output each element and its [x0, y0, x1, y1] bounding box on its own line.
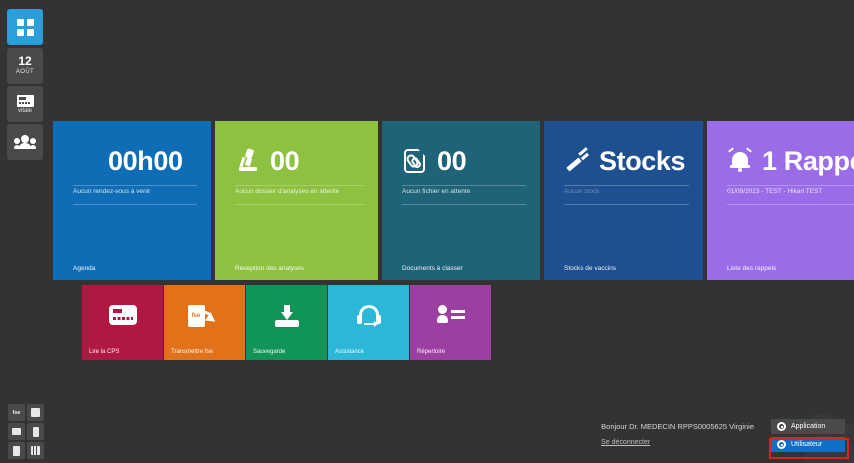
device-icon — [33, 427, 39, 437]
rail-item-vitale-label: vitale — [18, 108, 32, 114]
tile-stocks[interactable]: Stocks Aucun stock Stocks de vaccins — [544, 121, 703, 280]
divider — [235, 185, 364, 186]
shortcut-sauvegarde-label: Sauvegarde — [253, 349, 285, 355]
bell-icon — [727, 148, 753, 174]
logout-link[interactable]: Se déconnecter — [601, 439, 650, 446]
tile-analyses[interactable]: 00 Aucun dossier d'analyses en attente R… — [215, 121, 378, 280]
divider — [564, 204, 689, 205]
tile-agenda[interactable]: 00h00 Aucun rendez-vous à venir Agenda — [53, 121, 211, 280]
rail-item-vitale[interactable]: vitale — [7, 86, 43, 122]
tile-analyses-footer: Réception des analyses — [235, 265, 304, 272]
util-button-lock[interactable] — [27, 404, 44, 421]
divider — [402, 204, 526, 205]
rail-item-date[interactable]: 12 AOÛT — [7, 48, 43, 84]
greeting-block: Bonjour Dr. MEDECIN RPPS0005625 Virginie… — [601, 422, 754, 449]
gear-icon — [777, 422, 786, 431]
shortcut-transmettre-fse-label: Transmettre fse — [171, 349, 213, 355]
tile-rappels-value: 1 Rappel — [762, 147, 854, 175]
util-button-document[interactable] — [8, 442, 25, 459]
divider — [564, 185, 689, 186]
divider — [727, 204, 854, 205]
divider — [235, 204, 364, 205]
desktop-root: 12 AOÛT vitale fse — [0, 0, 854, 463]
tile-documents-subtitle: Aucun fichier en attente — [402, 188, 470, 195]
tile-rappels-subtitle: 01/09/2023 - TEST - Hikari TEST — [727, 188, 822, 195]
paperclip-document-icon — [402, 148, 428, 174]
shortcut-transmettre-fse[interactable]: fse Transmettre fse — [164, 285, 245, 360]
chart-icon — [31, 446, 40, 455]
utility-icon-grid: fse — [8, 404, 44, 459]
clock-icon — [73, 148, 99, 174]
tile-analyses-header: 00 — [235, 147, 299, 175]
util-button-device[interactable] — [27, 423, 44, 440]
contact-list-icon — [410, 305, 491, 325]
tile-stocks-header: Stocks — [564, 147, 685, 175]
shortcut-assistance-label: Assistance — [335, 349, 364, 355]
divider — [73, 204, 197, 205]
tile-agenda-header: 00h00 — [73, 147, 183, 175]
syringe-icon — [564, 148, 590, 174]
lock-icon — [31, 408, 40, 417]
tile-rappels-footer: Liste des rappels — [727, 265, 776, 272]
divider — [73, 185, 197, 186]
greeting-text: Bonjour Dr. MEDECIN RPPS0005625 Virginie — [601, 422, 754, 431]
tile-agenda-subtitle: Aucun rendez-vous à venir — [73, 188, 150, 195]
util-button-stats[interactable] — [27, 442, 44, 459]
tile-documents-footer: Documents à classer — [402, 265, 463, 272]
rail-date-month: AOÛT — [16, 68, 34, 77]
left-rail: 12 AOÛT vitale — [0, 0, 50, 463]
util-button-fse[interactable]: fse — [8, 404, 25, 421]
fse-icon: fse — [13, 410, 21, 416]
tile-documents-header: 00 — [402, 147, 466, 175]
divider — [402, 185, 526, 186]
shortcut-repertoire-label: Répertoire — [417, 349, 445, 355]
grid-icon — [17, 19, 34, 36]
shortcut-lire-cps[interactable]: Lire la CPS — [82, 285, 163, 360]
shortcut-repertoire[interactable]: Répertoire — [410, 285, 491, 360]
vitale-card-icon — [17, 95, 34, 107]
tile-agenda-value: 00h00 — [108, 147, 183, 175]
document-icon — [13, 446, 20, 456]
divider — [727, 185, 854, 186]
application-button-label: Application — [791, 423, 825, 430]
tile-agenda-footer: Agenda — [73, 265, 95, 272]
application-button[interactable]: Application — [771, 419, 845, 434]
tile-documents[interactable]: 00 Aucun fichier en attente Documents à … — [382, 121, 540, 280]
rail-item-home[interactable] — [7, 9, 43, 45]
tile-analyses-subtitle: Aucun dossier d'analyses en attente — [235, 188, 339, 195]
shortcut-assistance[interactable]: Assistance — [328, 285, 409, 360]
tile-rappels-header: 1 Rappel — [727, 147, 854, 175]
tile-stocks-value: Stocks — [599, 147, 685, 175]
cps-card-icon — [82, 305, 163, 325]
mail-icon — [12, 428, 21, 435]
rail-date-day: 12 — [18, 55, 31, 67]
util-button-mail[interactable] — [8, 423, 25, 440]
tile-stocks-footer: Stocks de vaccins — [564, 265, 616, 272]
tile-documents-value: 00 — [437, 147, 466, 175]
people-icon — [14, 135, 36, 149]
highlight-rectangle — [769, 438, 849, 459]
download-save-icon — [246, 305, 327, 327]
tile-stocks-subtitle: Aucun stock — [564, 188, 599, 195]
rail-item-patients[interactable] — [7, 124, 43, 160]
tile-analyses-value: 00 — [270, 147, 299, 175]
headset-icon — [328, 305, 409, 327]
microscope-icon — [235, 148, 261, 174]
shortcut-lire-cps-label: Lire la CPS — [89, 349, 119, 355]
tile-rappels[interactable]: 1 Rappel 01/09/2023 - TEST - Hikari TEST… — [707, 121, 854, 280]
shortcut-sauvegarde[interactable]: Sauvegarde — [246, 285, 327, 360]
fse-send-icon: fse — [164, 305, 245, 327]
